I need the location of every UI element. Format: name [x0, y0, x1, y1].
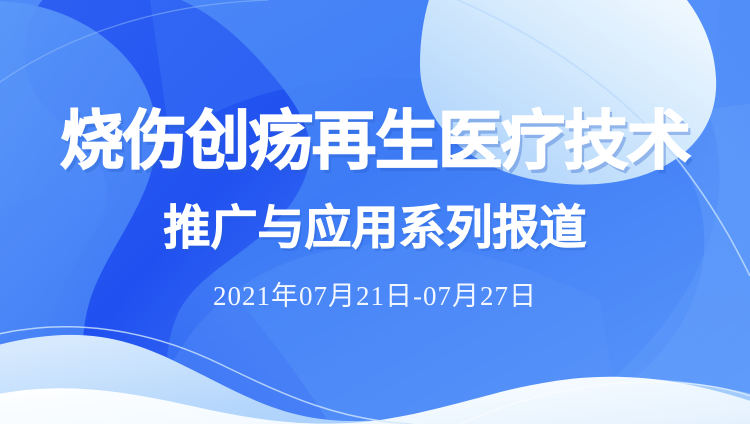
banner-date-range: 2021年07月21日-07月27日 — [0, 279, 750, 313]
banner-title-subtitle: 推广与应用系列报道 — [0, 199, 750, 257]
banner-text-layer: 烧伤创疡再生医疗技术 推广与应用系列报道 2021年07月21日-07月27日 — [0, 0, 750, 424]
promo-banner: 烧伤创疡再生医疗技术 推广与应用系列报道 2021年07月21日-07月27日 — [0, 0, 750, 424]
banner-title-main: 烧伤创疡再生医疗技术 — [0, 103, 750, 179]
